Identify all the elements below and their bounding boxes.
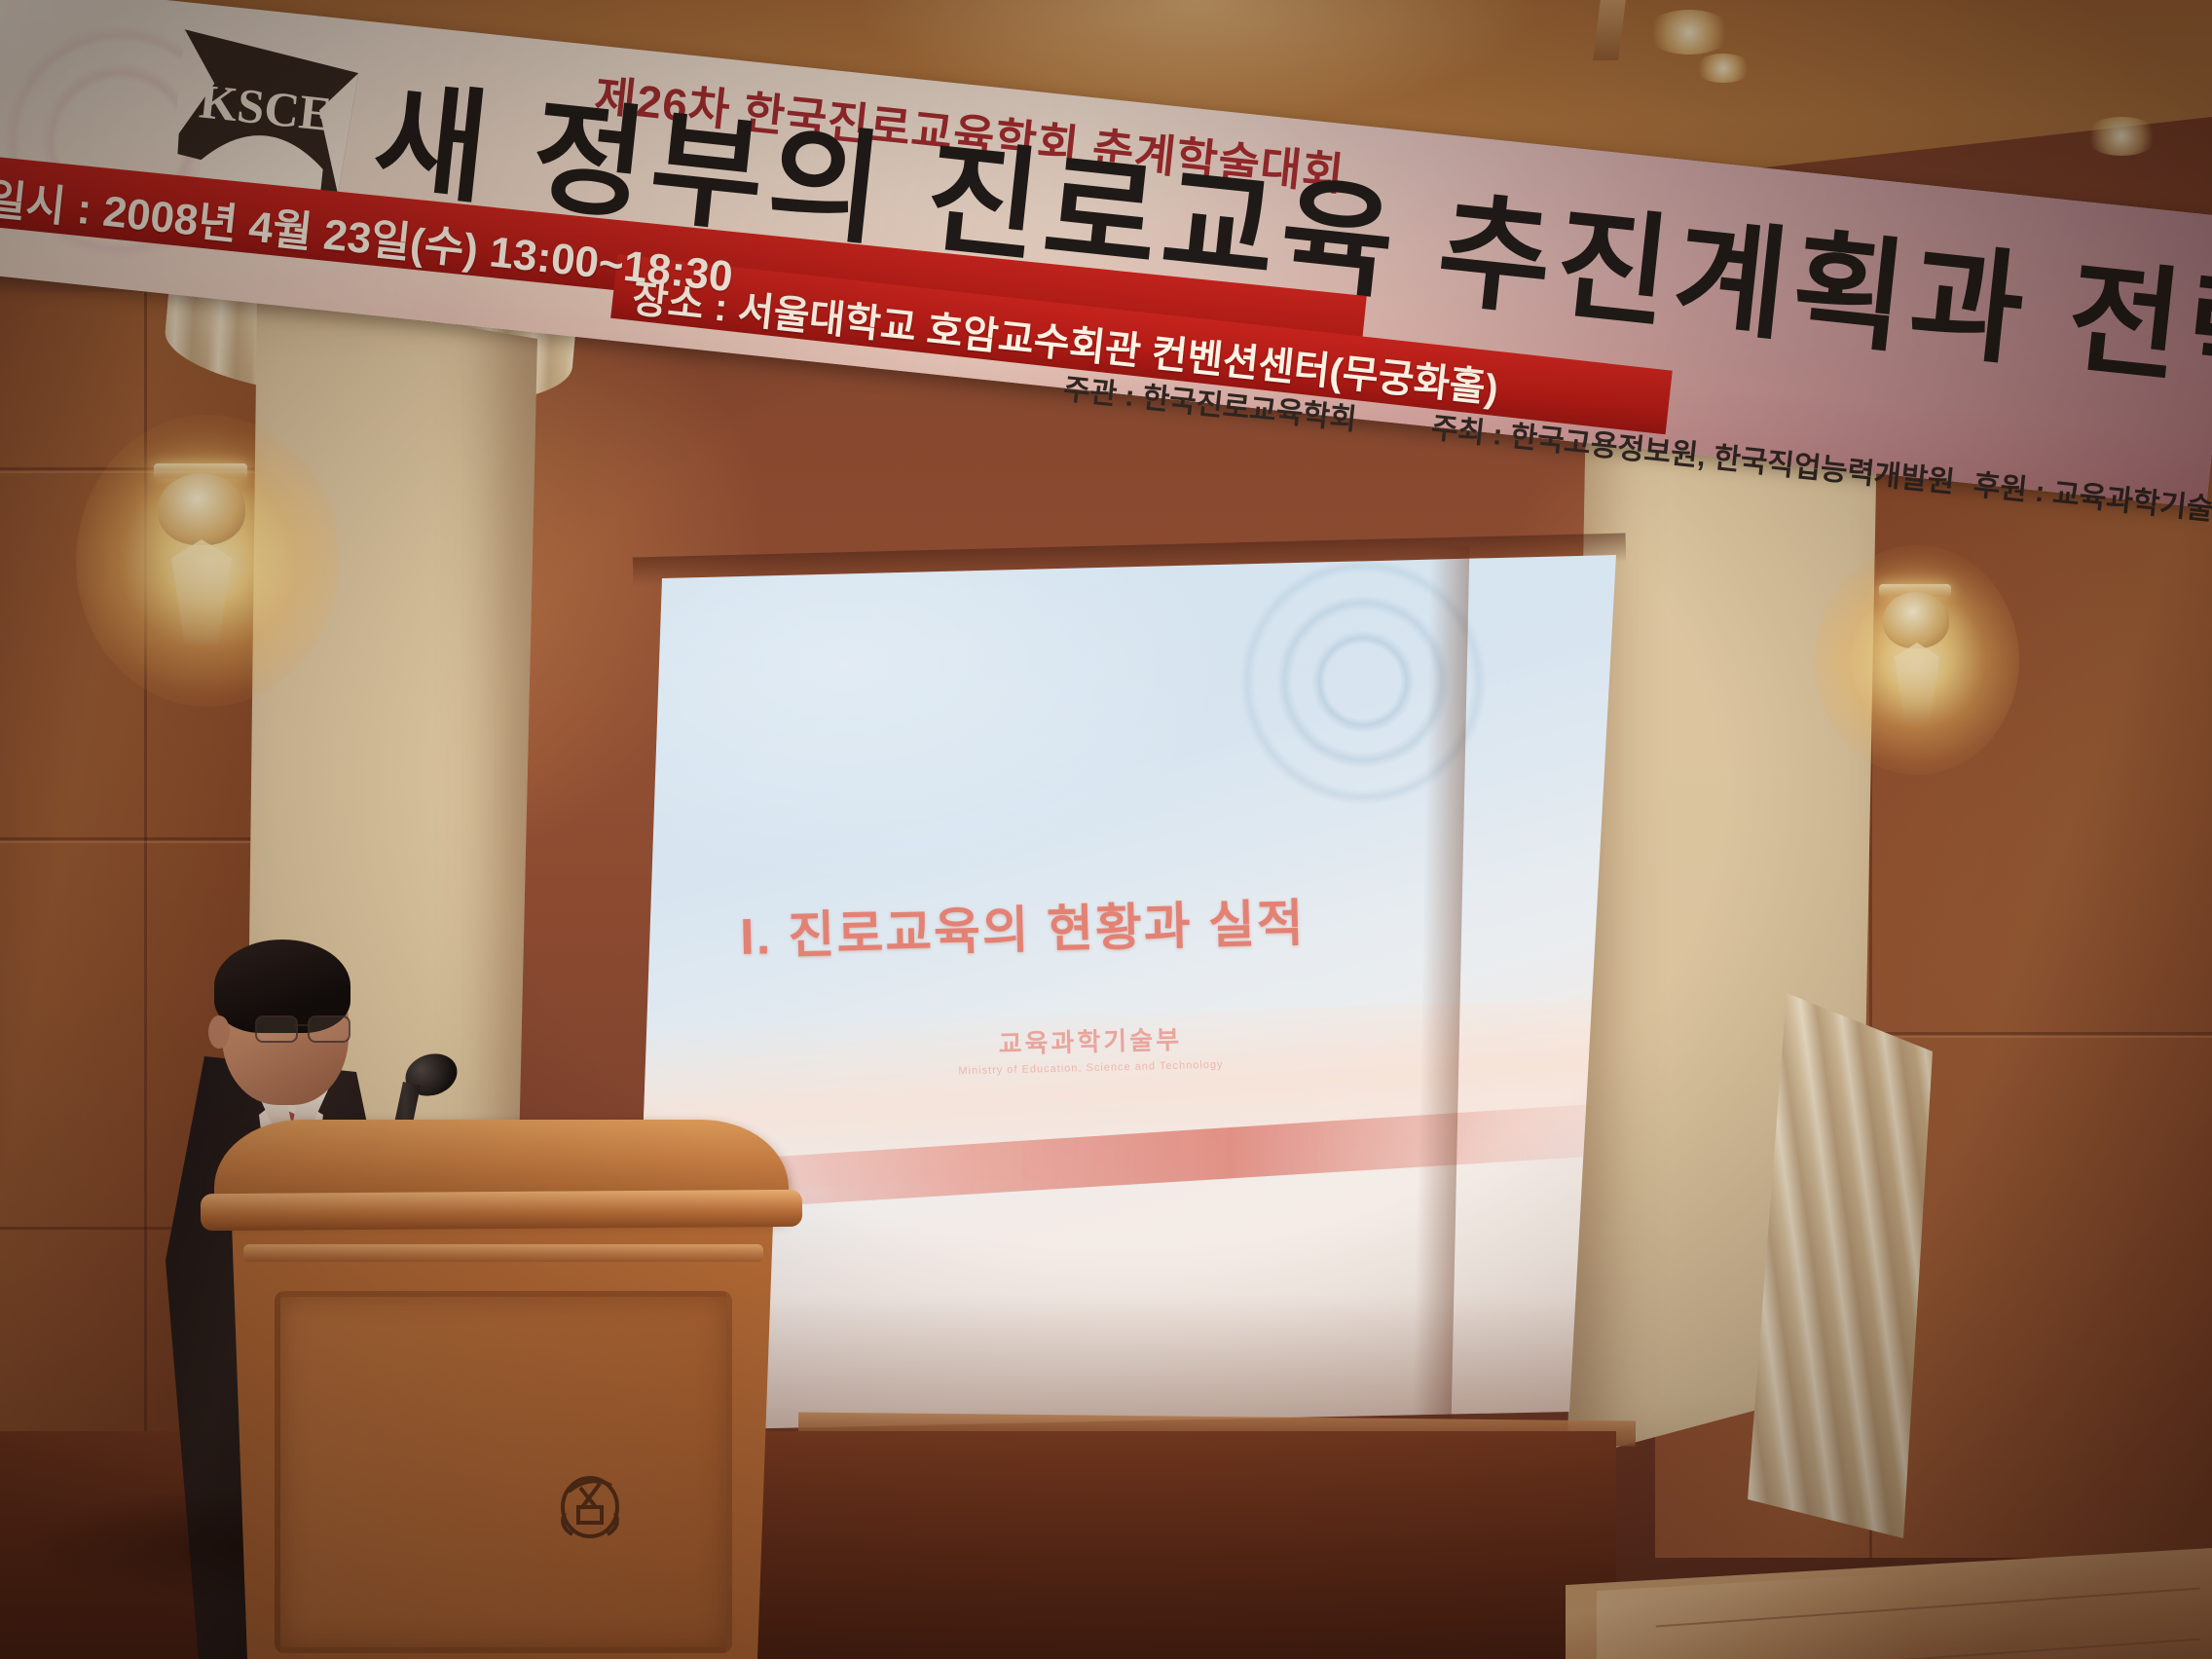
photo-scene: I. 진로교육의 현황과 실적 교육과학기술부 Ministry of Educ…: [0, 0, 2212, 1659]
presenter-ear: [208, 1015, 230, 1049]
lectern-molding: [243, 1244, 763, 1262]
ceiling-downlight-icon: [1694, 54, 1752, 83]
lectern-reading-lip: [201, 1190, 802, 1231]
ceiling-downlight-icon: [1645, 10, 1733, 55]
screen-glare: [623, 545, 1626, 1090]
university-seal-emblem: [553, 1462, 627, 1544]
ksce-bowtie-logo: KSCE: [166, 25, 366, 200]
eyeglasses-icon: [255, 1015, 349, 1041]
lectern-panel-inset: [275, 1291, 732, 1653]
ceiling-downlight-icon: [2083, 117, 2159, 156]
crystal-wall-sconce-left: [115, 450, 290, 664]
wooden-lectern: [214, 1120, 789, 1659]
